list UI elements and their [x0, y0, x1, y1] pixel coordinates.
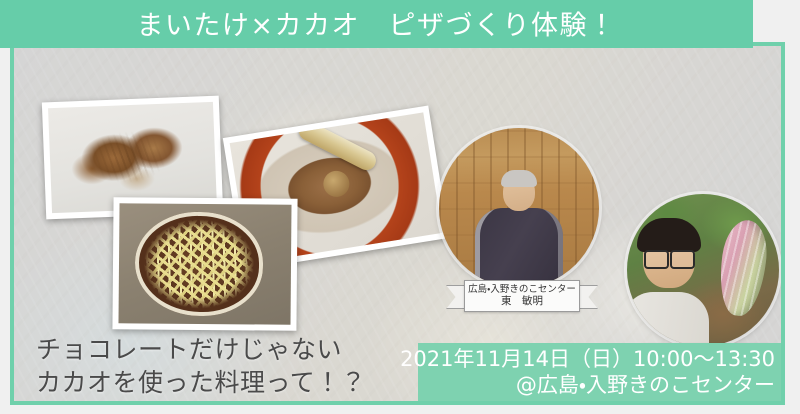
headline-line-1: チョコレートだけじゃない	[36, 330, 342, 366]
poster-canvas: 広島・入野きのこセンター 東 敏明 菓子工房mike・御饌cacao 三宅 崇 …	[0, 0, 800, 414]
photo-pizza	[112, 197, 297, 331]
headline-line-2: カカオを使った料理って！？	[36, 363, 366, 399]
nameplate-higashi-name: 東 敏明	[501, 295, 543, 307]
glasses-icon	[644, 250, 695, 265]
poster-frame: 広島・入野きのこセンター 東 敏明 菓子工房mike・御饌cacao 三宅 崇 …	[10, 42, 785, 405]
portrait-higashi-body	[475, 208, 563, 288]
portrait-higashi	[439, 128, 599, 288]
portrait-higashi-hair	[501, 170, 537, 187]
poster-title: まいたけ×カカオ ピザづくり体験！	[0, 4, 753, 43]
photo-pizza-image	[118, 203, 291, 324]
event-info-band: 2021年11月14日（日）10:00〜13:30 @広島・入野きのこセンター	[418, 343, 785, 401]
nameplate-higashi: 広島・入野きのこセンター 東 敏明	[446, 280, 598, 312]
title-banner: まいたけ×カカオ ピザづくり体験！	[0, 0, 753, 48]
event-datetime: 2021年11月14日（日）10:00〜13:30	[400, 346, 775, 372]
portrait-miyake	[627, 194, 779, 346]
portrait-miyake-body	[627, 292, 709, 346]
event-venue: @広島・入野きのこセンター	[516, 372, 775, 398]
glasses-lens-left	[644, 250, 669, 269]
headline-line-3: まいたけとカカオの異色のコラボ！	[36, 396, 444, 405]
nameplate-higashi-plate: 広島・入野きのこセンター 東 敏明	[464, 280, 580, 312]
glasses-lens-right	[670, 250, 695, 269]
nameplate-higashi-affiliation: 広島・入野きのこセンター	[468, 284, 576, 295]
